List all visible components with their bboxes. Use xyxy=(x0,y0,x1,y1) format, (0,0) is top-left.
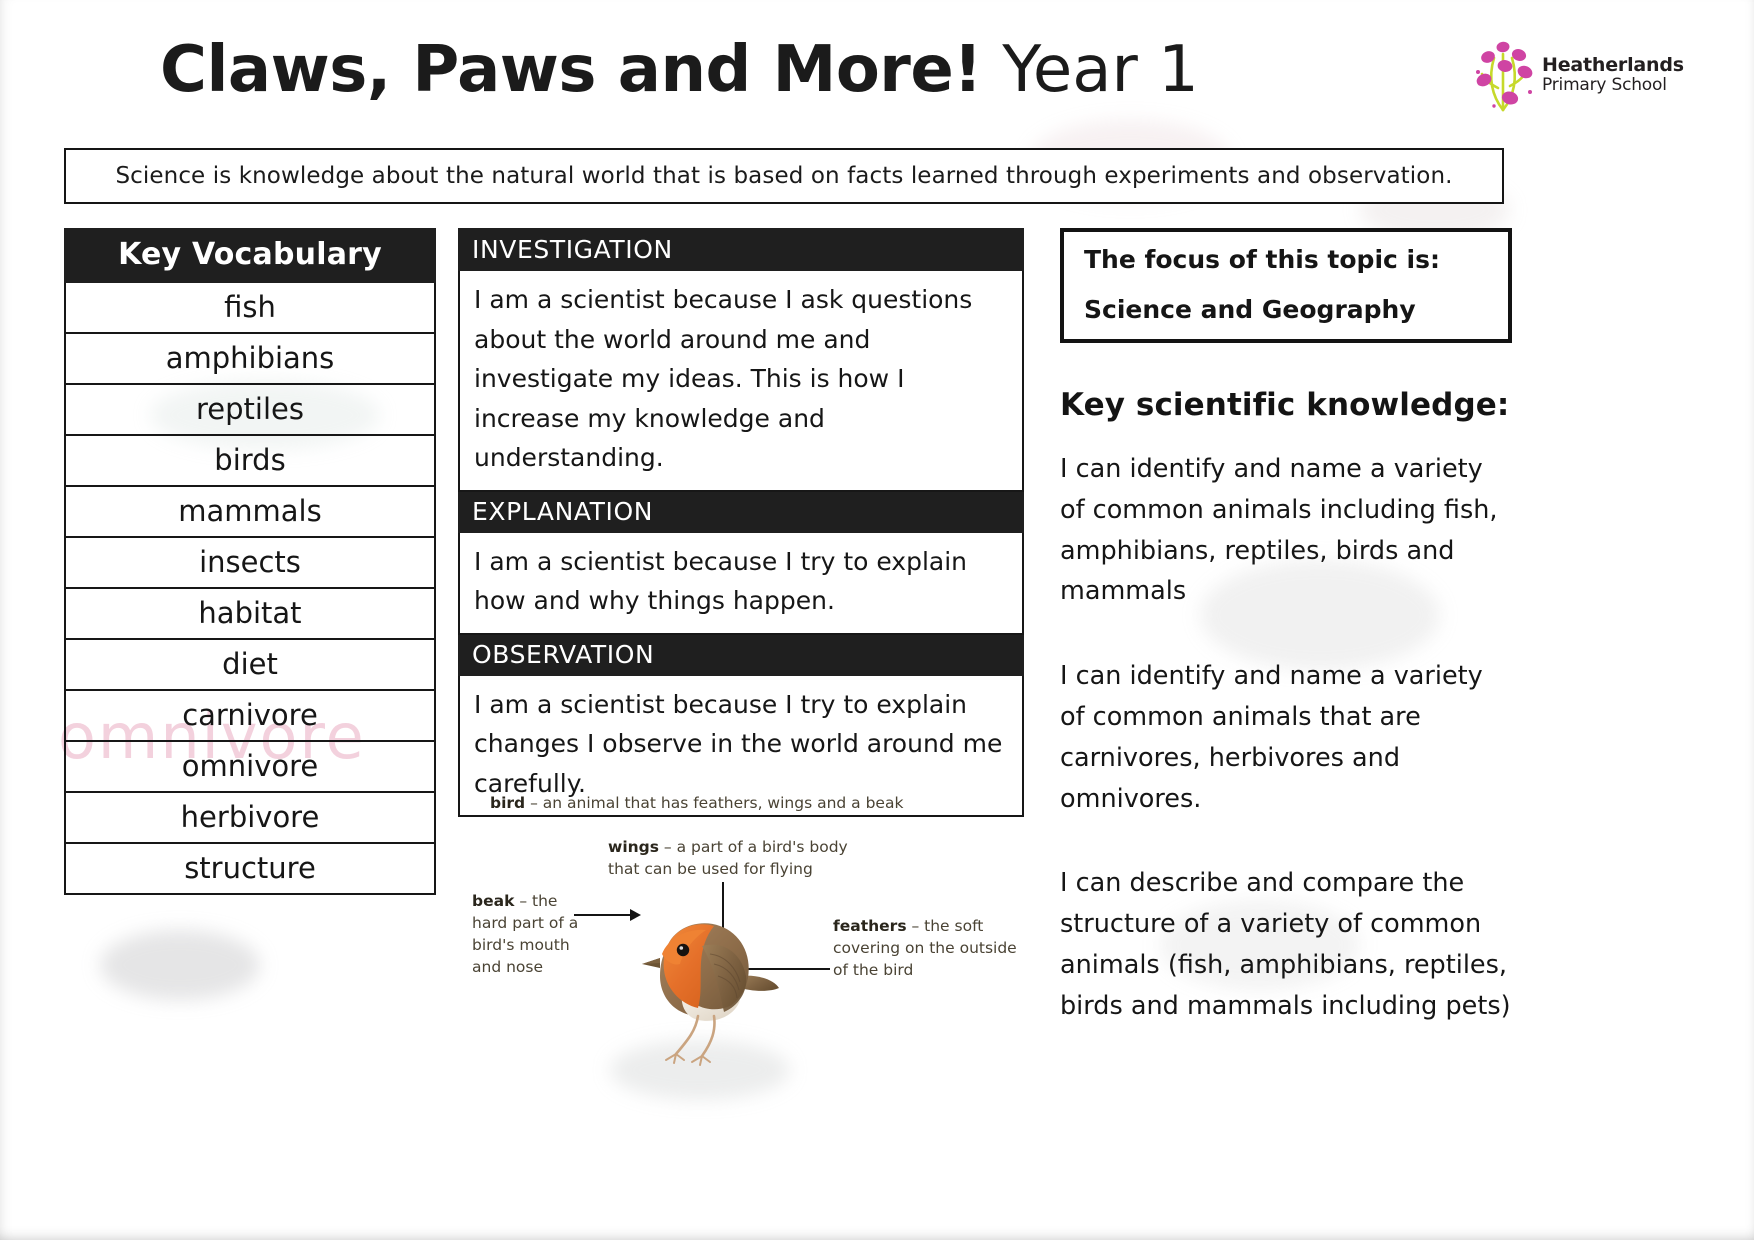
bird-definition: – an animal that has feathers, wings and… xyxy=(525,794,903,812)
vocabulary-term: herbivore xyxy=(64,793,436,844)
vocabulary-term: fish xyxy=(64,283,436,334)
page-title-main: Claws, Paws and More! xyxy=(160,33,982,107)
skill-heading: INVESTIGATION xyxy=(458,228,1024,271)
key-vocabulary-heading: Key Vocabulary xyxy=(64,228,436,283)
skill-heading: OBSERVATION xyxy=(458,635,1024,676)
vocabulary-term: structure xyxy=(64,844,436,895)
vocabulary-term: amphibians xyxy=(64,334,436,385)
bird-labelled-diagram: bird – an animal that has feathers, wing… xyxy=(458,778,1028,1078)
knowledge-statement: I can identify and name a variety of com… xyxy=(1060,656,1512,819)
skill-body: I am a scientist because I try to explai… xyxy=(458,533,1024,635)
bird-definition-label: bird – an animal that has feathers, wing… xyxy=(490,792,903,814)
feathers-definition-label: feathers – the soft covering on the outs… xyxy=(833,915,1023,981)
scan-smudge-1 xyxy=(100,930,260,1000)
page-title: Claws, Paws and More! Year 1 xyxy=(160,38,1199,102)
science-definition-text: Science is knowledge about the natural w… xyxy=(115,163,1452,189)
vocabulary-term: mammals xyxy=(64,487,436,538)
topic-focus-box: The focus of this topic is: Science and … xyxy=(1060,228,1512,343)
logo-school-name: Heatherlands xyxy=(1542,55,1684,76)
vocabulary-term: carnivore xyxy=(64,691,436,742)
focus-prompt: The focus of this topic is: xyxy=(1084,246,1488,274)
wings-definition-label: wings – a part of a bird's body that can… xyxy=(608,836,878,880)
wings-term: wings xyxy=(608,838,659,856)
skill-body: I am a scientist because I ask questions… xyxy=(458,271,1024,492)
key-vocabulary-rows: fishamphibiansreptilesbirdsmammalsinsect… xyxy=(64,283,436,895)
knowledge-statement: I can identify and name a variety of com… xyxy=(1060,449,1512,612)
key-scientific-knowledge-list: I can identify and name a variety of com… xyxy=(1060,449,1512,1027)
logo-wordmark: Heatherlands Primary School xyxy=(1542,55,1684,95)
robin-photo xyxy=(636,888,781,1068)
vocabulary-term: birds xyxy=(64,436,436,487)
key-scientific-knowledge-title: Key scientific knowledge: xyxy=(1060,387,1512,423)
page-header: Claws, Paws and More! Year 1 xyxy=(0,0,1754,140)
beak-leader-line xyxy=(574,914,632,916)
science-skills-table: INVESTIGATIONI am a scientist because I … xyxy=(458,228,1024,817)
worksheet-page: omnivore Claws, Paws and More! Year 1 xyxy=(0,0,1754,1240)
beak-definition-label: beak – the hard part of a bird's mouth a… xyxy=(472,890,582,978)
feathers-term: feathers xyxy=(833,917,907,935)
skill-heading: EXPLANATION xyxy=(458,492,1024,533)
bird-term: bird xyxy=(490,794,525,812)
school-logo: Heatherlands Primary School xyxy=(1472,32,1722,118)
heather-flower-icon xyxy=(1472,36,1534,114)
vocabulary-term: habitat xyxy=(64,589,436,640)
key-vocabulary-table: Key Vocabulary fishamphibiansreptilesbir… xyxy=(64,228,436,895)
vocabulary-term: omnivore xyxy=(64,742,436,793)
beak-term: beak xyxy=(472,892,514,910)
knowledge-statement: I can describe and compare the structure… xyxy=(1060,863,1512,1026)
vocabulary-term: insects xyxy=(64,538,436,589)
science-definition-banner: Science is knowledge about the natural w… xyxy=(64,148,1504,204)
right-column: The focus of this topic is: Science and … xyxy=(1060,228,1512,1027)
page-title-year: Year 1 xyxy=(1002,33,1199,107)
focus-subjects: Science and Geography xyxy=(1084,296,1488,324)
vocabulary-term: reptiles xyxy=(64,385,436,436)
vocabulary-term: diet xyxy=(64,640,436,691)
logo-school-type: Primary School xyxy=(1542,76,1684,95)
